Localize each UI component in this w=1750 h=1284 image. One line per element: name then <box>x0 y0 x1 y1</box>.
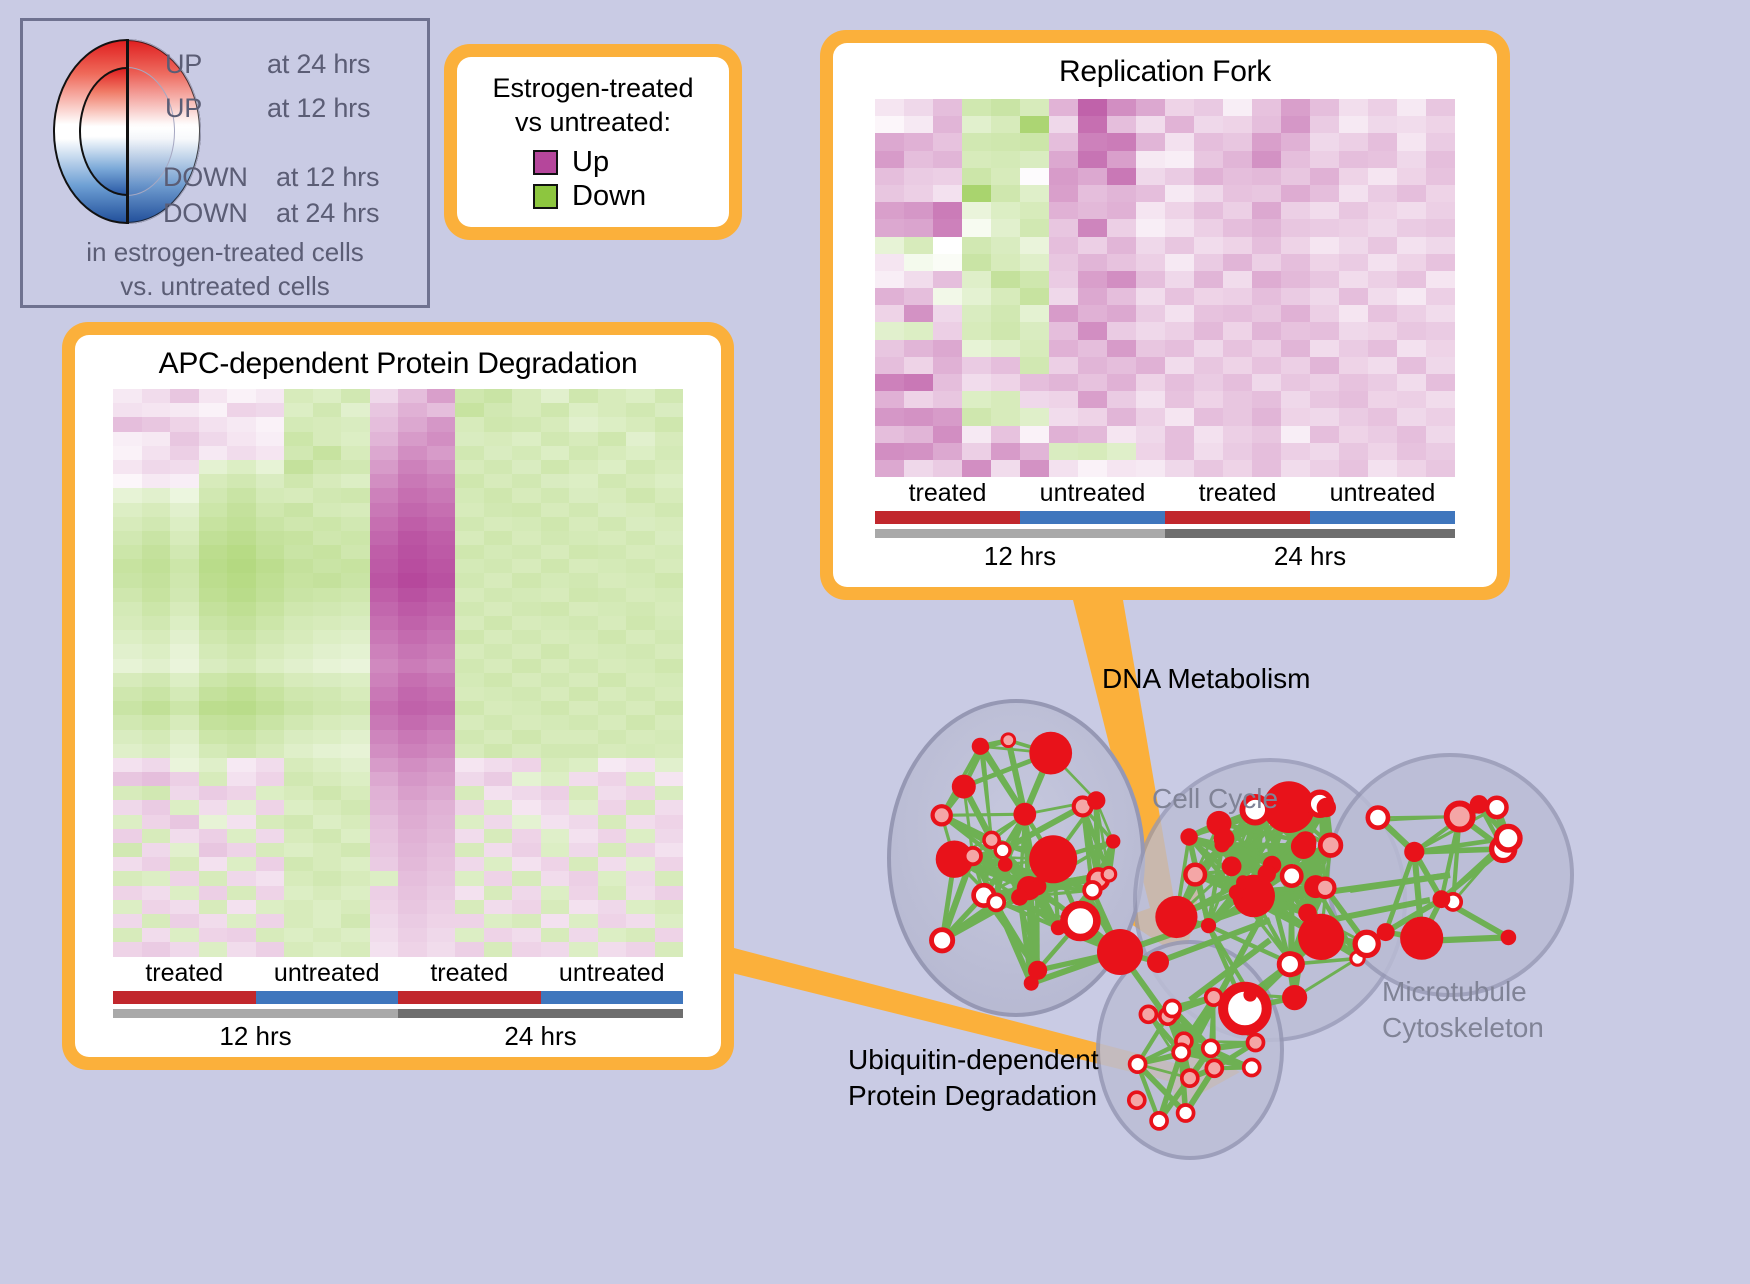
network-node[interactable] <box>1298 904 1317 923</box>
network-node[interactable] <box>1129 1092 1145 1108</box>
network-node[interactable] <box>1206 1060 1222 1076</box>
heatmap-cell <box>1136 391 1165 408</box>
heatmap-cell <box>626 517 655 531</box>
heatmap-cell <box>875 340 904 357</box>
heatmap-cell <box>398 900 427 914</box>
heatmap-cell <box>541 871 570 885</box>
heatmap-cell <box>512 871 541 885</box>
network-node[interactable] <box>1487 798 1506 817</box>
heatmap-cell <box>1339 271 1368 288</box>
heatmap-cell <box>655 857 684 871</box>
heatmap-cell <box>1281 237 1310 254</box>
heatmap-cell <box>1107 237 1136 254</box>
heatmap-cell <box>199 446 228 460</box>
heatmap-cell <box>199 644 228 658</box>
group-color-3 <box>541 991 684 1004</box>
heatmap-cell <box>1281 151 1310 168</box>
heatmap-cell <box>1368 357 1397 374</box>
heatmap-cell <box>962 237 991 254</box>
heatmap-cell <box>142 417 171 431</box>
heatmap-cell <box>227 815 256 829</box>
network-node[interactable] <box>1173 1044 1189 1060</box>
heatmap-cell <box>1107 460 1136 477</box>
heatmap-cell <box>370 715 399 729</box>
heatmap-cell <box>1078 443 1107 460</box>
heatmap-cell <box>598 503 627 517</box>
network-node[interactable] <box>1097 929 1143 975</box>
heatmap-cell <box>1049 357 1078 374</box>
heatmap-cell <box>256 815 285 829</box>
heatmap-cell <box>142 389 171 403</box>
heatmap-cell <box>991 219 1020 236</box>
heatmap-cell <box>427 630 456 644</box>
heatmap-cell <box>1310 443 1339 460</box>
heatmap-cell <box>1339 202 1368 219</box>
network-node[interactable] <box>1282 866 1301 885</box>
heatmap-cell <box>113 559 142 573</box>
heatmap-cell <box>1339 99 1368 116</box>
heatmap-cell <box>933 391 962 408</box>
heatmap-cell <box>1426 408 1455 425</box>
heatmap-cell <box>1397 185 1426 202</box>
heatmap-cell <box>598 403 627 417</box>
heatmap-cell <box>370 942 399 956</box>
heatmap-cell <box>569 531 598 545</box>
network-node[interactable] <box>1320 835 1341 856</box>
heatmap-cell <box>341 644 370 658</box>
heatmap-cell <box>933 426 962 443</box>
heatmap-cell <box>284 758 313 772</box>
heatmap-cell <box>142 871 171 885</box>
heatmap-cell <box>1136 219 1165 236</box>
colorwheel-caption-line2: vs. untreated cells <box>23 269 427 303</box>
heatmap-cell <box>1281 116 1310 133</box>
network-node[interactable] <box>1355 932 1378 955</box>
heatmap-cell <box>113 488 142 502</box>
heatmap-cell <box>256 928 285 942</box>
heatmap-cell <box>1078 99 1107 116</box>
heatmap-cell <box>569 389 598 403</box>
heatmap-cell <box>284 900 313 914</box>
heatmap-cell <box>512 417 541 431</box>
network-node[interactable] <box>1316 879 1334 897</box>
heatmap-cell <box>113 900 142 914</box>
heatmap-cell <box>1223 185 1252 202</box>
heatmap-cell <box>142 829 171 843</box>
network-node[interactable] <box>1185 865 1205 885</box>
heatmap-cell <box>1107 271 1136 288</box>
heatmap-cell <box>341 772 370 786</box>
apc-degradation-axis: treated untreated treated untreated 12 h… <box>113 957 683 1054</box>
network-node[interactable] <box>1203 1040 1219 1056</box>
label-microtubule-1: Microtubule <box>1382 975 1527 1009</box>
heatmap-cell <box>370 616 399 630</box>
network-node[interactable] <box>1244 1060 1260 1076</box>
heatmap-cell <box>398 417 427 431</box>
network-node[interactable] <box>1102 867 1116 881</box>
heatmap-cell <box>991 185 1020 202</box>
heatmap-cell <box>455 829 484 843</box>
heatmap-cell <box>1020 219 1049 236</box>
heatmap-cell <box>484 786 513 800</box>
network-node[interactable] <box>1243 988 1257 1002</box>
heatmap-cell <box>1194 288 1223 305</box>
heatmap-cell <box>512 588 541 602</box>
heatmap-cell <box>284 815 313 829</box>
heatmap-cell <box>1049 305 1078 322</box>
heatmap-cell <box>199 488 228 502</box>
heatmap-cell <box>256 573 285 587</box>
heatmap-cell <box>370 914 399 928</box>
network-node[interactable] <box>1147 951 1169 973</box>
heatmap-cell <box>284 417 313 431</box>
heatmap-cell <box>1310 374 1339 391</box>
heatmap-cell <box>1078 426 1107 443</box>
heatmap-cell <box>598 673 627 687</box>
heatmap-cell <box>991 426 1020 443</box>
heatmap-cell <box>398 772 427 786</box>
heatmap-cell <box>284 474 313 488</box>
heatmap-cell <box>1107 426 1136 443</box>
heatmap-cell <box>512 503 541 517</box>
network-node[interactable] <box>1214 828 1235 849</box>
heatmap-cell <box>256 644 285 658</box>
heatmap-cell <box>227 417 256 431</box>
heatmap-cell <box>199 843 228 857</box>
network-node[interactable] <box>1002 734 1015 747</box>
heatmap-cell <box>1426 391 1455 408</box>
heatmap-cell <box>1078 305 1107 322</box>
heatmap-cell <box>484 460 513 474</box>
heatmap-cell <box>655 730 684 744</box>
network-node[interactable] <box>1501 930 1517 946</box>
heatmap-cell <box>284 531 313 545</box>
heatmap-cell <box>113 758 142 772</box>
network-node[interactable] <box>1404 842 1424 862</box>
network-node[interactable] <box>1236 875 1250 889</box>
heatmap-cell <box>1107 168 1136 185</box>
heatmap-cell <box>370 701 399 715</box>
network-node[interactable] <box>1064 905 1097 938</box>
network-node[interactable] <box>1368 808 1388 828</box>
heatmap-cell <box>455 730 484 744</box>
heatmap-cell <box>484 914 513 928</box>
heatmap-cell <box>991 443 1020 460</box>
heatmap-cell <box>1107 185 1136 202</box>
heatmap-cell <box>1426 99 1455 116</box>
network-node[interactable] <box>1151 1113 1167 1129</box>
heatmap-cell <box>1339 443 1368 460</box>
heatmap-cell <box>142 857 171 871</box>
network-node[interactable] <box>1279 954 1300 975</box>
heatmap-cell <box>1426 357 1455 374</box>
heatmap-cell <box>313 701 342 715</box>
heatmap-cell <box>1194 151 1223 168</box>
heatmap-cell <box>1165 374 1194 391</box>
network-node[interactable] <box>1106 834 1120 848</box>
heatmap-cell <box>427 928 456 942</box>
heatmap-cell <box>484 815 513 829</box>
network-node[interactable] <box>1084 882 1100 898</box>
heatmap-cell <box>541 517 570 531</box>
network-edge <box>942 814 1025 815</box>
heatmap-cell <box>1223 391 1252 408</box>
network-node[interactable] <box>1029 732 1072 775</box>
heatmap-cell <box>1078 116 1107 133</box>
network-node[interactable] <box>1496 826 1520 850</box>
heatmap-cell <box>1165 288 1194 305</box>
heatmap-cell <box>484 900 513 914</box>
network-node[interactable] <box>1013 803 1036 826</box>
heatmap-cell <box>227 886 256 900</box>
heatmap-cell <box>341 829 370 843</box>
heatmap-cell <box>541 687 570 701</box>
heatmap-cell <box>962 168 991 185</box>
heatmap-cell <box>199 701 228 715</box>
heatmap-cell <box>1281 254 1310 271</box>
replication-fork-title: Replication Fork <box>833 43 1497 89</box>
network-node[interactable] <box>1180 828 1197 845</box>
heatmap-cell <box>284 616 313 630</box>
heatmap-cell <box>284 630 313 644</box>
heatmap-cell <box>598 531 627 545</box>
heatmap-cell <box>512 602 541 616</box>
network-node[interactable] <box>995 843 1010 858</box>
heatmap-cell <box>341 928 370 942</box>
heatmap-cell <box>1368 322 1397 339</box>
heatmap-cell <box>569 800 598 814</box>
heatmap-cell <box>569 403 598 417</box>
heatmap-cell <box>1426 340 1455 357</box>
network-node[interactable] <box>1155 896 1197 938</box>
heatmap-cell <box>1397 237 1426 254</box>
heatmap-cell <box>1252 374 1281 391</box>
heatmap-cell <box>484 673 513 687</box>
network-node[interactable] <box>1222 856 1242 876</box>
heatmap-cell <box>598 857 627 871</box>
heatmap-cell <box>1368 340 1397 357</box>
network-node[interactable] <box>1409 928 1435 954</box>
heatmap-cell <box>569 460 598 474</box>
heatmap-cell <box>1194 357 1223 374</box>
heatmap-cell <box>313 389 342 403</box>
heatmap-cell <box>512 857 541 871</box>
group-color-3 <box>1310 511 1455 524</box>
heatmap-cell <box>598 460 627 474</box>
wheel-divider <box>126 39 129 224</box>
heatmap-cell <box>1107 357 1136 374</box>
network-node[interactable] <box>1164 1001 1180 1017</box>
network-node[interactable] <box>1051 920 1066 935</box>
heatmap-cell <box>1368 460 1397 477</box>
heatmap-cell <box>1426 374 1455 391</box>
heatmap-cell <box>1194 185 1223 202</box>
heatmap-cell <box>256 942 285 956</box>
updown-legend-items: Up Down <box>475 145 711 213</box>
heatmap-cell <box>398 871 427 885</box>
heatmap-cell <box>170 417 199 431</box>
network-node[interactable] <box>933 806 951 824</box>
heatmap-cell <box>512 616 541 630</box>
network-node[interactable] <box>1282 985 1307 1010</box>
heatmap-cell <box>227 432 256 446</box>
heatmap-cell <box>1339 133 1368 150</box>
heatmap-cell <box>626 928 655 942</box>
heatmap-cell <box>170 857 199 871</box>
heatmap-cell <box>227 559 256 573</box>
heatmap-cell <box>962 357 991 374</box>
heatmap-cell <box>569 701 598 715</box>
heatmap-cell <box>1223 340 1252 357</box>
network-node[interactable] <box>1178 1105 1194 1121</box>
network-node[interactable] <box>1295 831 1317 853</box>
heatmap-cell <box>1339 151 1368 168</box>
heatmap-cell <box>1223 305 1252 322</box>
network-node[interactable] <box>1011 889 1028 906</box>
heatmap-cell <box>991 288 1020 305</box>
group-color-0 <box>875 511 1020 524</box>
network-node[interactable] <box>1470 795 1489 814</box>
heatmap-cell <box>199 786 228 800</box>
network-node[interactable] <box>1248 1035 1264 1051</box>
heatmap-cell <box>1165 133 1194 150</box>
heatmap-cell <box>1049 254 1078 271</box>
heatmap-cell <box>256 531 285 545</box>
heatmap-cell <box>313 488 342 502</box>
heatmap-cell <box>113 942 142 956</box>
heatmap-cell <box>484 403 513 417</box>
label-microtubule-2: Cytoskeleton <box>1382 1011 1544 1045</box>
heatmap-cell <box>455 715 484 729</box>
network-node[interactable] <box>1433 890 1451 908</box>
heatmap-cell <box>1020 133 1049 150</box>
network-node[interactable] <box>1206 989 1222 1005</box>
apc-degradation-title: APC-dependent Protein Degradation <box>75 335 721 381</box>
heatmap-cell <box>1426 168 1455 185</box>
heatmap-cell <box>904 237 933 254</box>
heatmap-cell <box>484 800 513 814</box>
network-node[interactable] <box>932 930 953 951</box>
heatmap-cell <box>370 815 399 829</box>
heatmap-cell <box>626 800 655 814</box>
network-node[interactable] <box>1029 835 1077 883</box>
heatmap-cell <box>904 460 933 477</box>
heatmap-cell <box>1310 151 1339 168</box>
heatmap-cell <box>1252 116 1281 133</box>
network-node[interactable] <box>977 741 989 753</box>
heatmap-cell <box>427 687 456 701</box>
heatmap-cell <box>626 460 655 474</box>
heatmap-cell <box>1368 426 1397 443</box>
heatmap-cell <box>142 900 171 914</box>
heatmap-cell <box>1165 408 1194 425</box>
heatmap-cell <box>199 602 228 616</box>
heatmap-cell <box>541 602 570 616</box>
heatmap-cell <box>427 474 456 488</box>
heatmap-cell <box>1020 305 1049 322</box>
network-node[interactable] <box>1140 1006 1156 1022</box>
heatmap-cell <box>512 659 541 673</box>
heatmap-cell <box>1281 133 1310 150</box>
heatmap-cell <box>875 288 904 305</box>
heatmap-cell <box>1223 460 1252 477</box>
heatmap-cell <box>455 446 484 460</box>
heatmap-cell <box>1136 116 1165 133</box>
network-node[interactable] <box>1201 918 1216 933</box>
heatmap-cell <box>484 659 513 673</box>
heatmap-cell <box>875 460 904 477</box>
network-node[interactable] <box>952 775 976 799</box>
heatmap-cell <box>1136 460 1165 477</box>
heatmap-cell <box>1107 340 1136 357</box>
heatmap-cell <box>991 460 1020 477</box>
heatmap-cell <box>484 503 513 517</box>
heatmap-cell <box>512 573 541 587</box>
heatmap-cell <box>933 151 962 168</box>
heatmap-cell <box>904 168 933 185</box>
heatmap-cell <box>398 588 427 602</box>
network-node[interactable] <box>1087 791 1105 809</box>
heatmap-cell <box>427 871 456 885</box>
heatmap-cell <box>1078 254 1107 271</box>
heatmap-cell <box>541 545 570 559</box>
heatmap-cell <box>1339 460 1368 477</box>
heatmap-cell <box>313 772 342 786</box>
heatmap-cell <box>1397 133 1426 150</box>
heatmap-cell <box>284 730 313 744</box>
heatmap-cell <box>512 730 541 744</box>
heatmap-cell <box>1020 426 1049 443</box>
network-node[interactable] <box>1182 1070 1198 1086</box>
heatmap-cell <box>455 786 484 800</box>
heatmap-cell <box>569 644 598 658</box>
heatmap-cell <box>541 531 570 545</box>
heatmap-cell <box>227 843 256 857</box>
heatmap-cell <box>1252 305 1281 322</box>
network-node[interactable] <box>1377 923 1395 941</box>
heatmap-cell <box>1368 133 1397 150</box>
heatmap-cell <box>313 914 342 928</box>
network-node[interactable] <box>988 894 1004 910</box>
network-node[interactable] <box>1258 865 1276 883</box>
heatmap-cell <box>655 474 684 488</box>
heatmap-cell <box>1426 322 1455 339</box>
heatmap-cell <box>170 928 199 942</box>
heatmap-cell <box>1368 391 1397 408</box>
heatmap-cell <box>1397 460 1426 477</box>
heatmap-cell <box>991 391 1020 408</box>
heatmap-cell <box>1078 460 1107 477</box>
heatmap-cell <box>341 403 370 417</box>
heatmap-cell <box>1165 116 1194 133</box>
network-node[interactable] <box>998 857 1013 872</box>
heatmap-cell <box>256 900 285 914</box>
heatmap-cell <box>227 928 256 942</box>
heatmap-cell <box>541 942 570 956</box>
network-node[interactable] <box>1130 1056 1146 1072</box>
network-node[interactable] <box>965 848 981 864</box>
heatmap-cell <box>1281 460 1310 477</box>
network-node[interactable] <box>1447 804 1473 830</box>
network-node[interactable] <box>1028 961 1047 980</box>
heatmap-cell <box>256 687 285 701</box>
heatmap-cell <box>991 374 1020 391</box>
heatmap-cell <box>1078 271 1107 288</box>
network-node[interactable] <box>1317 798 1336 817</box>
heatmap-cell <box>1136 185 1165 202</box>
heatmap-cell <box>455 616 484 630</box>
heatmap-cell <box>398 531 427 545</box>
